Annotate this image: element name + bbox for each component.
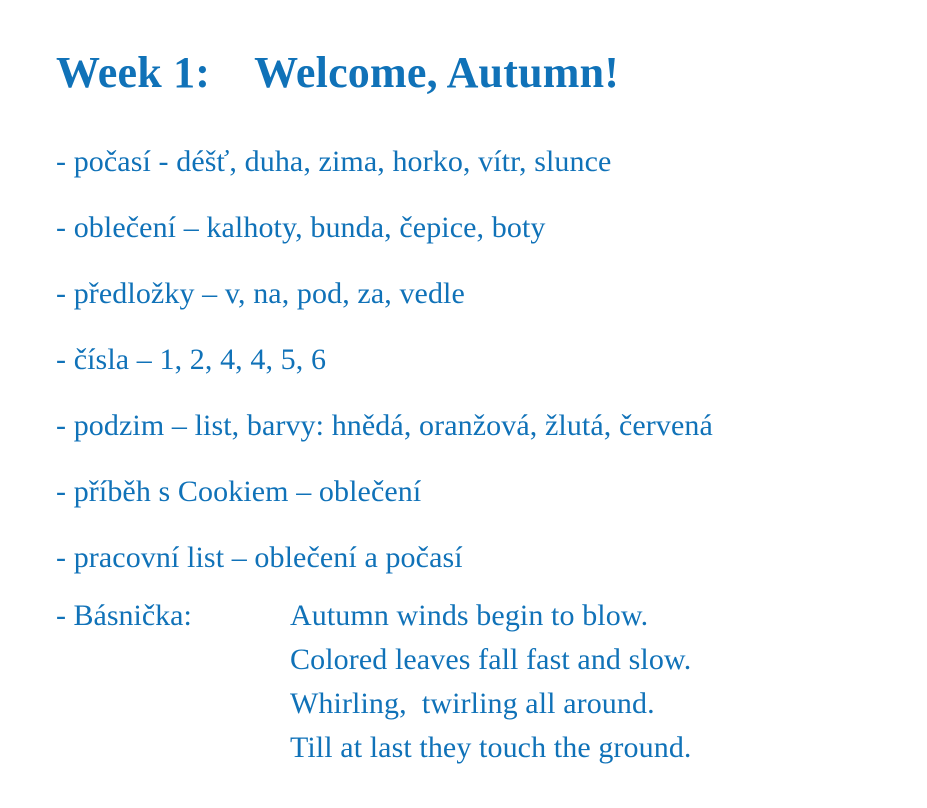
topic-list: - počasí - déšť, duha, zima, horko, vítr… — [56, 129, 916, 591]
poem-label: - Básnička: — [56, 594, 290, 638]
document-page: Week 1:Welcome, Autumn! - počasí - déšť,… — [0, 0, 927, 808]
poem-line: Till at last they touch the ground. — [290, 726, 692, 770]
page-title-main: Welcome, Autumn! — [254, 48, 619, 97]
list-item: - počasí - déšť, duha, zima, horko, vítr… — [56, 129, 916, 195]
list-item: - čísla – 1, 2, 4, 4, 5, 6 — [56, 327, 916, 393]
list-item: - oblečení – kalhoty, bunda, čepice, bot… — [56, 195, 916, 261]
poem-line-list: Autumn winds begin to blow. Colored leav… — [290, 594, 692, 770]
list-item: - podzim – list, barvy: hnědá, oranžová,… — [56, 393, 916, 459]
poem-section: - Básnička: Autumn winds begin to blow. … — [56, 594, 916, 770]
poem-line: Colored leaves fall fast and slow. — [290, 638, 692, 682]
list-item: - předložky – v, na, pod, za, vedle — [56, 261, 916, 327]
list-item: - pracovní list – oblečení a počasí — [56, 525, 916, 591]
poem-line: Whirling, twirling all around. — [290, 682, 692, 726]
page-title: Week 1:Welcome, Autumn! — [56, 47, 619, 99]
poem-line: Autumn winds begin to blow. — [290, 594, 692, 638]
page-title-lead: Week 1: — [56, 48, 210, 97]
list-item: - příběh s Cookiem – oblečení — [56, 459, 916, 525]
